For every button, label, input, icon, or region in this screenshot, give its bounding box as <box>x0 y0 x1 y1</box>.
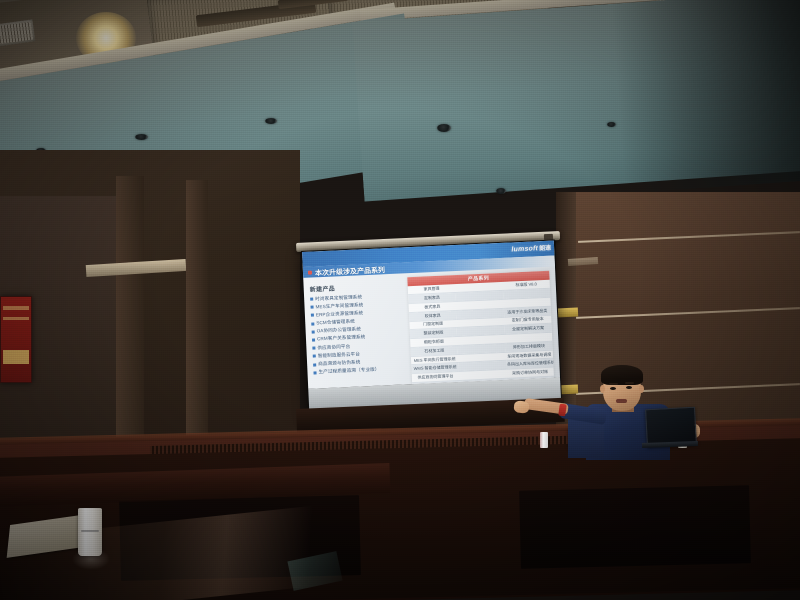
bullet-item-label: 时尚家具定制管理系统 <box>315 294 362 302</box>
bullet-item-label: CRM客户关系管理系统 <box>317 335 366 343</box>
bullet-item-label: 智能制造服务云平台 <box>318 351 360 359</box>
bullet-square-icon <box>312 330 315 333</box>
title-bullet-dot <box>308 270 312 274</box>
recessed-light-7 <box>607 122 616 127</box>
presenter-brow-left <box>609 383 618 385</box>
bullet-square-icon <box>311 322 314 325</box>
bullet-square-icon <box>313 371 316 374</box>
bullet-square-icon <box>312 338 315 341</box>
left-panel-bullet-list: 时尚家具定制管理系统MES生产车间管理系统ERP企业资源管理系统SCM仓储管理系… <box>310 292 402 376</box>
soffit-right <box>352 0 800 212</box>
presenter-pointing-hand <box>513 400 529 414</box>
recessed-light-5 <box>437 124 451 132</box>
presenter-ear-left <box>600 385 605 393</box>
recessed-light-3 <box>265 118 277 124</box>
slide-title: 本次升级涉及产品系列 <box>315 265 385 278</box>
bullet-square-icon <box>310 306 313 309</box>
logo-text: lumsoft <box>511 245 538 253</box>
desk-panel-inset-right <box>519 485 751 569</box>
bullet-square-icon <box>311 314 314 317</box>
product-series-table: 产品系列 家具管理标准版 V8.0定制家具板式家具软体家具适用于沙发床垫等品类门… <box>407 271 554 389</box>
water-bottle-left <box>540 432 548 448</box>
bullet-item-label: 供应商协同平台 <box>317 343 350 350</box>
slide-left-panel: 新建产品 时尚家具定制管理系统MES生产车间管理系统ERP企业资源管理系统SCM… <box>310 281 402 378</box>
cup-reflection <box>72 548 110 570</box>
recessed-light-2 <box>135 134 148 140</box>
conference-room-photo: lumsoft朗速 本次升级涉及产品系列 新建产品 时尚家具定制管理系统MES生… <box>0 0 800 600</box>
bullet-item: 生产过程质量追溯（专业版） <box>313 366 401 376</box>
presenter-mouth <box>616 399 627 403</box>
wall-gold-accent-1 <box>556 308 578 318</box>
wall-column-left <box>116 176 144 476</box>
projection-screen: lumsoft朗速 本次升级涉及产品系列 新建产品 时尚家具定制管理系统MES生… <box>301 239 562 415</box>
presenter-hair <box>601 365 643 385</box>
bullet-item-label: ERP企业资源管理系统 <box>316 310 364 318</box>
bullet-item-label: SCM仓储管理系统 <box>316 319 355 327</box>
bullet-square-icon <box>313 355 316 358</box>
bullet-square-icon <box>312 347 315 350</box>
bullet-square-icon <box>313 363 316 366</box>
bullet-item-label: MES生产车间管理系统 <box>315 302 363 310</box>
presenter-eye-left <box>610 387 616 390</box>
presentation-slide: lumsoft朗速 本次升级涉及产品系列 新建产品 时尚家具定制管理系统MES生… <box>302 241 560 389</box>
bullet-square-icon <box>310 297 313 300</box>
logo-chinese: 朗速 <box>539 245 551 252</box>
bullet-item-label: 生产过程质量追溯（专业版） <box>318 367 379 376</box>
recessed-light-6 <box>496 188 506 194</box>
table-body: 家具管理标准版 V8.0定制家具板式家具软体家具适用于沙发床垫等品类门窗定制版定… <box>408 280 555 389</box>
left-panel-heading: 新建产品 <box>310 281 398 294</box>
presenter-brow-right <box>625 382 634 384</box>
bullet-item-label: 商品溯源与防伪系统 <box>318 359 360 367</box>
wall-poster-red <box>0 296 32 383</box>
lumsoft-logo: lumsoft朗速 <box>511 242 551 253</box>
bullet-item-label: OA协同办公管理系统 <box>317 327 362 335</box>
presenter-ear-right <box>639 385 644 393</box>
presenter-eye-right <box>626 386 632 389</box>
